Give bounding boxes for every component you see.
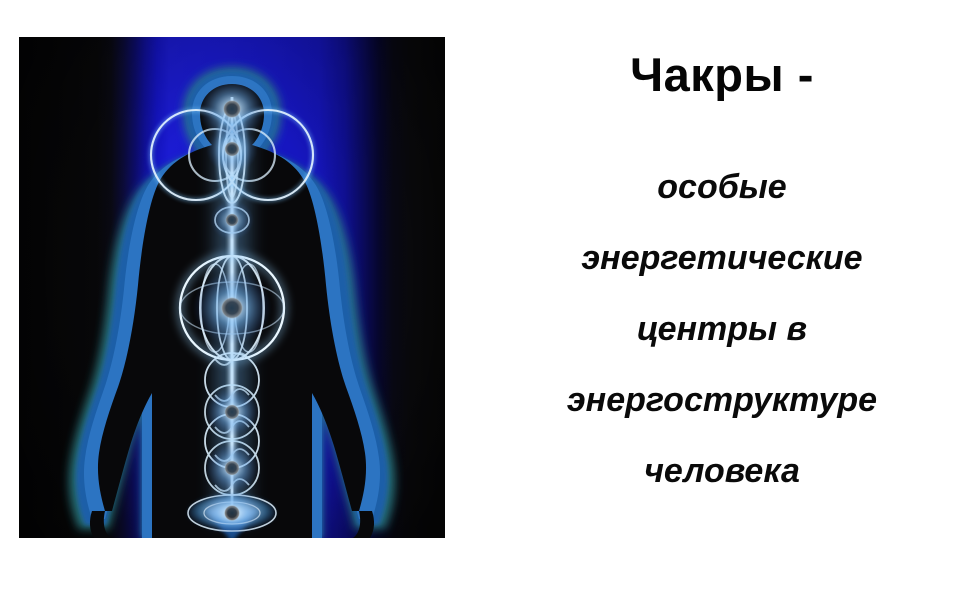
slide-canvas: Чакры - особые энергетические центры в э… (0, 0, 974, 590)
body-line-5: человека (470, 436, 974, 507)
body-line-2: энергетические (470, 223, 974, 294)
body-aura-artwork (19, 37, 445, 538)
slide-body: особые энергетические центры в энергостр… (470, 152, 974, 507)
chakra-body-diagram (19, 37, 445, 538)
body-line-1: особые (470, 152, 974, 223)
column-bloom (215, 92, 249, 522)
slide-title: Чакры - (470, 50, 974, 101)
body-line-4: энергоструктуре (470, 365, 974, 436)
text-column: Чакры - особые энергетические центры в э… (470, 0, 974, 590)
body-line-3: центры в (470, 294, 974, 365)
